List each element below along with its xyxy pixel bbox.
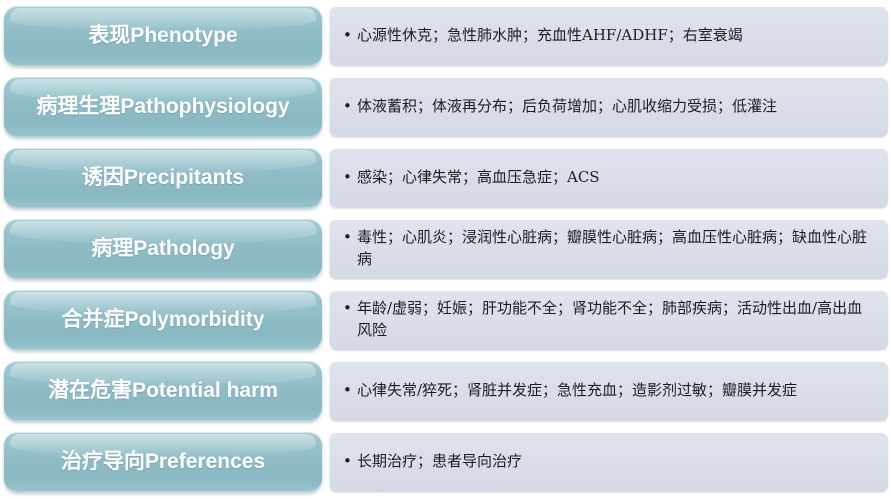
matrix-row: 表现Phenotype • 心源性休克；急性肺水肿；充血性AHF/ADHF；右室… <box>0 4 891 68</box>
matrix-row: 病理Pathology • 毒性；心肌炎；浸润性心脏病；瓣膜性心脏病；高血压性心… <box>0 217 891 281</box>
row-label-text: 表现Phenotype <box>80 24 245 48</box>
row-label-polymorbidity[interactable]: 合并症Polymorbidity <box>4 290 322 350</box>
bullet-dot-icon: • <box>343 298 357 320</box>
bullet-dot-icon: • <box>343 167 357 189</box>
row-label-text: 病理Pathology <box>83 237 243 261</box>
row-label-pathophysiology[interactable]: 病理生理Pathophysiology <box>4 77 322 137</box>
row-label-text: 治疗导向Preferences <box>53 450 273 474</box>
matrix-row: 潜在危害Potential harm • 心律失常/猝死；肾脏并发症；急性充血；… <box>0 359 891 423</box>
row-label-phenotype[interactable]: 表现Phenotype <box>4 6 322 66</box>
row-content-pathology[interactable]: • 毒性；心肌炎；浸润性心脏病；瓣膜性心脏病；高血压性心脏病；缺血性心脏病 <box>329 219 888 279</box>
row-label-text: 合并症Polymorbidity <box>53 308 272 332</box>
matrix-row: 治疗导向Preferences • 长期治疗；患者导向治疗 <box>0 430 891 494</box>
row-content-text: 长期治疗；患者导向治疗 <box>357 451 522 473</box>
bullet-dot-icon: • <box>343 451 357 473</box>
bullet-line: • 体液蓄积；体液再分布；后负荷增加；心肌收缩力受损；低灌注 <box>343 96 777 118</box>
row-label-preferences[interactable]: 治疗导向Preferences <box>4 432 322 492</box>
row-content-precipitants[interactable]: • 感染；心律失常；高血压急症；ACS <box>329 148 888 208</box>
row-content-text: 体液蓄积；体液再分布；后负荷增加；心肌收缩力受损；低灌注 <box>357 96 777 118</box>
bullet-dot-icon: • <box>343 227 357 249</box>
bullet-dot-icon: • <box>343 96 357 118</box>
matrix-row: 合并症Polymorbidity • 年龄/虚弱；妊娠；肝功能不全；肾功能不全；… <box>0 288 891 352</box>
row-label-pathology[interactable]: 病理Pathology <box>4 219 322 279</box>
row-content-potential-harm[interactable]: • 心律失常/猝死；肾脏并发症；急性充血；造影剂过敏；瓣膜并发症 <box>329 361 888 421</box>
phenotype-matrix-diagram: 表现Phenotype • 心源性休克；急性肺水肿；充血性AHF/ADHF；右室… <box>0 0 891 499</box>
row-content-pathophysiology[interactable]: • 体液蓄积；体液再分布；后负荷增加；心肌收缩力受损；低灌注 <box>329 77 888 137</box>
row-label-precipitants[interactable]: 诱因Precipitants <box>4 148 322 208</box>
matrix-row: 病理生理Pathophysiology • 体液蓄积；体液再分布；后负荷增加；心… <box>0 75 891 139</box>
row-content-text: 毒性；心肌炎；浸润性心脏病；瓣膜性心脏病；高血压性心脏病；缺血性心脏病 <box>357 227 876 271</box>
row-label-text: 诱因Precipitants <box>74 166 252 190</box>
matrix-row: 诱因Precipitants • 感染；心律失常；高血压急症；ACS <box>0 146 891 210</box>
row-label-text: 病理生理Pathophysiology <box>28 95 297 119</box>
bullet-line: • 年龄/虚弱；妊娠；肝功能不全；肾功能不全；肺部疾病；活动性出血/高出血风险 <box>343 298 876 342</box>
bullet-line: • 心律失常/猝死；肾脏并发症；急性充血；造影剂过敏；瓣膜并发症 <box>343 380 797 402</box>
bullet-line: • 长期治疗；患者导向治疗 <box>343 451 522 473</box>
row-content-preferences[interactable]: • 长期治疗；患者导向治疗 <box>329 432 888 492</box>
row-content-text: 心源性休克；急性肺水肿；充血性AHF/ADHF；右室衰竭 <box>357 25 743 47</box>
row-label-potential-harm[interactable]: 潜在危害Potential harm <box>4 361 322 421</box>
row-content-text: 心律失常/猝死；肾脏并发症；急性充血；造影剂过敏；瓣膜并发症 <box>357 380 797 402</box>
bullet-line: • 感染；心律失常；高血压急症；ACS <box>343 167 600 189</box>
bullet-line: • 毒性；心肌炎；浸润性心脏病；瓣膜性心脏病；高血压性心脏病；缺血性心脏病 <box>343 227 876 271</box>
row-content-phenotype[interactable]: • 心源性休克；急性肺水肿；充血性AHF/ADHF；右室衰竭 <box>329 6 888 66</box>
bullet-dot-icon: • <box>343 25 357 47</box>
bullet-line: • 心源性休克；急性肺水肿；充血性AHF/ADHF；右室衰竭 <box>343 25 743 47</box>
row-content-text: 年龄/虚弱；妊娠；肝功能不全；肾功能不全；肺部疾病；活动性出血/高出血风险 <box>357 298 876 342</box>
row-content-polymorbidity[interactable]: • 年龄/虚弱；妊娠；肝功能不全；肾功能不全；肺部疾病；活动性出血/高出血风险 <box>329 290 888 350</box>
row-content-text: 感染；心律失常；高血压急症；ACS <box>357 167 600 189</box>
bullet-dot-icon: • <box>343 380 357 402</box>
row-label-text: 潜在危害Potential harm <box>40 379 286 403</box>
